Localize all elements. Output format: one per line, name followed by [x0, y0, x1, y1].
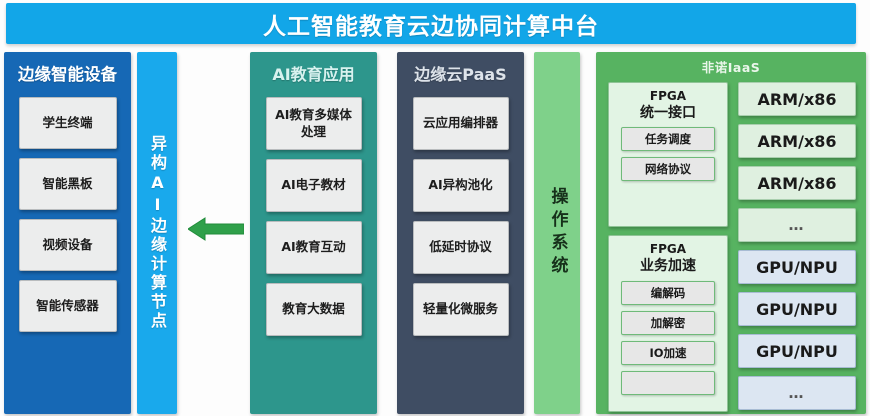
fpga-sub-item[interactable]: 任务调度 — [621, 127, 715, 151]
list-item[interactable]: AI异构池化 — [413, 159, 509, 212]
hardware-box[interactable]: ARM/x86 — [738, 124, 856, 158]
fpga-unified-interface-card[interactable]: FPGA 统一接口 任务调度 网络协议 — [608, 82, 728, 227]
fpga-sub-item[interactable]: 编解码 — [621, 281, 715, 305]
operating-system-label: 操作系统 — [549, 187, 566, 279]
edge-compute-node-label: 异构AI边缘计算节点 — [149, 135, 165, 331]
list-item[interactable]: 云应用编排器 — [413, 97, 509, 150]
fpga-card-label-en: FPGA — [650, 89, 686, 104]
list-item[interactable]: 教育大数据 — [266, 283, 362, 336]
column-edge-devices-header: 边缘智能设备 — [4, 52, 131, 85]
iaas-title: 非诺IaaS — [596, 52, 866, 76]
edge-devices-item-list: 学生终端 智能黑板 视频设备 智能传感器 — [4, 97, 131, 332]
column-ai-education-apps: AI教育应用 AI教育多媒体处理 AI电子教材 AI教育互动 教育大数据 — [250, 52, 377, 414]
column-edge-devices: 边缘智能设备 学生终端 智能黑板 视频设备 智能传感器 — [4, 52, 131, 414]
list-item[interactable]: AI电子教材 — [266, 159, 362, 212]
list-item[interactable]: AI教育互动 — [266, 221, 362, 274]
column-edge-cloud-paas: 边缘云PaaS 云应用编排器 AI异构池化 低延时协议 轻量化微服务 — [397, 52, 524, 414]
fpga-card-list: FPGA 统一接口 任务调度 网络协议 FPGA 业务加速 编解码 加解密 IO… — [608, 82, 728, 412]
hardware-box[interactable]: GPU/NPU — [738, 334, 856, 368]
column-edge-compute-node: 异构AI边缘计算节点 — [137, 52, 177, 414]
column-ai-education-apps-header: AI教育应用 — [250, 52, 377, 85]
fpga-service-acceleration-card[interactable]: FPGA 业务加速 编解码 加解密 IO加速 — [608, 235, 728, 412]
list-item[interactable]: 智能传感器 — [19, 280, 117, 332]
hardware-box-list: ARM/x86 ARM/x86 ARM/x86 … GPU/NPU GPU/NP… — [738, 82, 856, 412]
hardware-box-more[interactable]: … — [738, 208, 856, 242]
fpga-sub-item[interactable]: 网络协议 — [621, 157, 715, 181]
iaas-body: FPGA 统一接口 任务调度 网络协议 FPGA 业务加速 编解码 加解密 IO… — [596, 76, 866, 412]
list-item[interactable]: 低延时协议 — [413, 221, 509, 274]
column-operating-system: 操作系统 — [534, 52, 580, 414]
fpga-card-label-cn: 业务加速 — [640, 257, 696, 275]
ai-education-apps-item-list: AI教育多媒体处理 AI电子教材 AI教育互动 教育大数据 — [250, 97, 377, 336]
list-item[interactable]: 视频设备 — [19, 219, 117, 271]
column-iaas: 非诺IaaS FPGA 统一接口 任务调度 网络协议 FPGA 业务加速 编解码… — [596, 52, 866, 414]
column-edge-cloud-paas-header: 边缘云PaaS — [397, 52, 524, 85]
diagram-canvas: 人工智能教育云边协同计算中台 边缘智能设备 学生终端 智能黑板 视频设备 智能传… — [0, 0, 870, 416]
left-arrow-icon — [188, 216, 244, 242]
hardware-box[interactable]: ARM/x86 — [738, 82, 856, 116]
page-title: 人工智能教育云边协同计算中台 — [263, 7, 599, 41]
fpga-sub-item-empty[interactable] — [621, 371, 715, 395]
fpga-card-label-en: FPGA — [650, 242, 686, 257]
hardware-box[interactable]: ARM/x86 — [738, 166, 856, 200]
fpga-sub-item[interactable]: IO加速 — [621, 341, 715, 365]
list-item[interactable]: 智能黑板 — [19, 158, 117, 210]
list-item[interactable]: 轻量化微服务 — [413, 283, 509, 336]
page-title-bar: 人工智能教育云边协同计算中台 — [6, 3, 856, 44]
hardware-box[interactable]: GPU/NPU — [738, 250, 856, 284]
hardware-box-more[interactable]: … — [738, 376, 856, 410]
edge-cloud-paas-item-list: 云应用编排器 AI异构池化 低延时协议 轻量化微服务 — [397, 97, 524, 336]
list-item[interactable]: 学生终端 — [19, 97, 117, 149]
fpga-sub-item[interactable]: 加解密 — [621, 311, 715, 335]
fpga-card-label-cn: 统一接口 — [640, 104, 696, 122]
list-item[interactable]: AI教育多媒体处理 — [266, 97, 362, 150]
hardware-box[interactable]: GPU/NPU — [738, 292, 856, 326]
